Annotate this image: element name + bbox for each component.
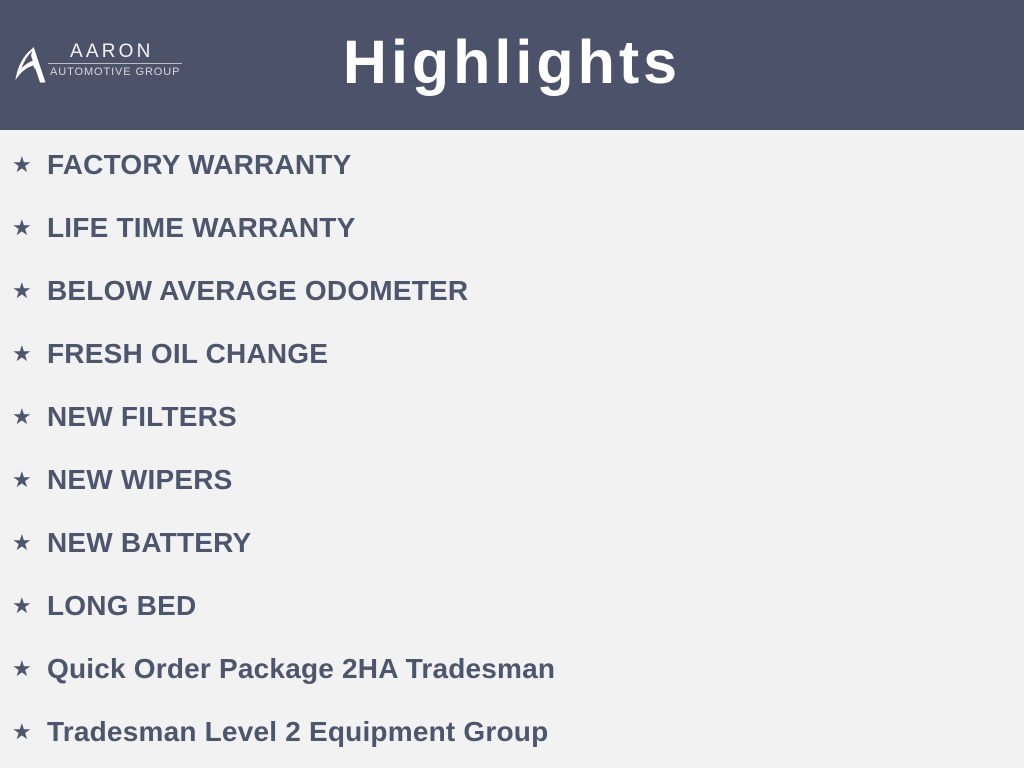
header-bar: AARON AUTOMOTIVE GROUP Highlights <box>0 0 1024 130</box>
highlight-label: NEW FILTERS <box>47 401 237 433</box>
logo-divider-rule <box>48 63 182 64</box>
star-bullet-icon: ★ <box>12 406 34 428</box>
list-item: ★Quick Order Package 2HA Tradesman <box>0 637 1024 700</box>
list-item: ★NEW FILTERS <box>0 385 1024 448</box>
highlights-list: ★FACTORY WARRANTY★LIFE TIME WARRANTY★BEL… <box>0 130 1024 768</box>
highlight-label: BELOW AVERAGE ODOMETER <box>47 275 468 307</box>
star-bullet-icon: ★ <box>12 532 34 554</box>
logo-tagline: AUTOMOTIVE GROUP <box>50 65 180 79</box>
list-item: ★Tradesman Level 2 Equipment Group <box>0 700 1024 763</box>
star-bullet-icon: ★ <box>12 154 34 176</box>
highlight-label: Quick Order Package 2HA Tradesman <box>47 653 555 685</box>
star-bullet-icon: ★ <box>12 280 34 302</box>
list-item: ★LIFE TIME WARRANTY <box>0 196 1024 259</box>
star-bullet-icon: ★ <box>12 595 34 617</box>
list-item: ★BELOW AVERAGE ODOMETER <box>0 259 1024 322</box>
highlights-slide: AARON AUTOMOTIVE GROUP Highlights ★FACTO… <box>0 0 1024 768</box>
highlight-label: NEW BATTERY <box>47 527 251 559</box>
list-item: ★FRESH OIL CHANGE <box>0 322 1024 385</box>
highlight-label: FRESH OIL CHANGE <box>47 338 328 370</box>
dealer-logo: AARON AUTOMOTIVE GROUP <box>8 40 183 88</box>
star-bullet-icon: ★ <box>12 343 34 365</box>
list-item: ★NEW WIPERS <box>0 448 1024 511</box>
star-bullet-icon: ★ <box>12 658 34 680</box>
list-item: ★NEW BATTERY <box>0 511 1024 574</box>
highlight-label: LONG BED <box>47 590 196 622</box>
list-item: ★LONG BED <box>0 574 1024 637</box>
highlight-label: Tradesman Level 2 Equipment Group <box>47 716 548 748</box>
highlight-label: NEW WIPERS <box>47 464 233 496</box>
star-bullet-icon: ★ <box>12 469 34 491</box>
star-bullet-icon: ★ <box>12 217 34 239</box>
list-item: ★FACTORY WARRANTY <box>0 133 1024 196</box>
star-bullet-icon: ★ <box>12 721 34 743</box>
highlight-label: FACTORY WARRANTY <box>47 149 351 181</box>
logo-brand-name: AARON <box>70 41 154 62</box>
logo-wordmark: AARON AUTOMOTIVE GROUP <box>48 40 184 86</box>
highlight-label: LIFE TIME WARRANTY <box>47 212 355 244</box>
